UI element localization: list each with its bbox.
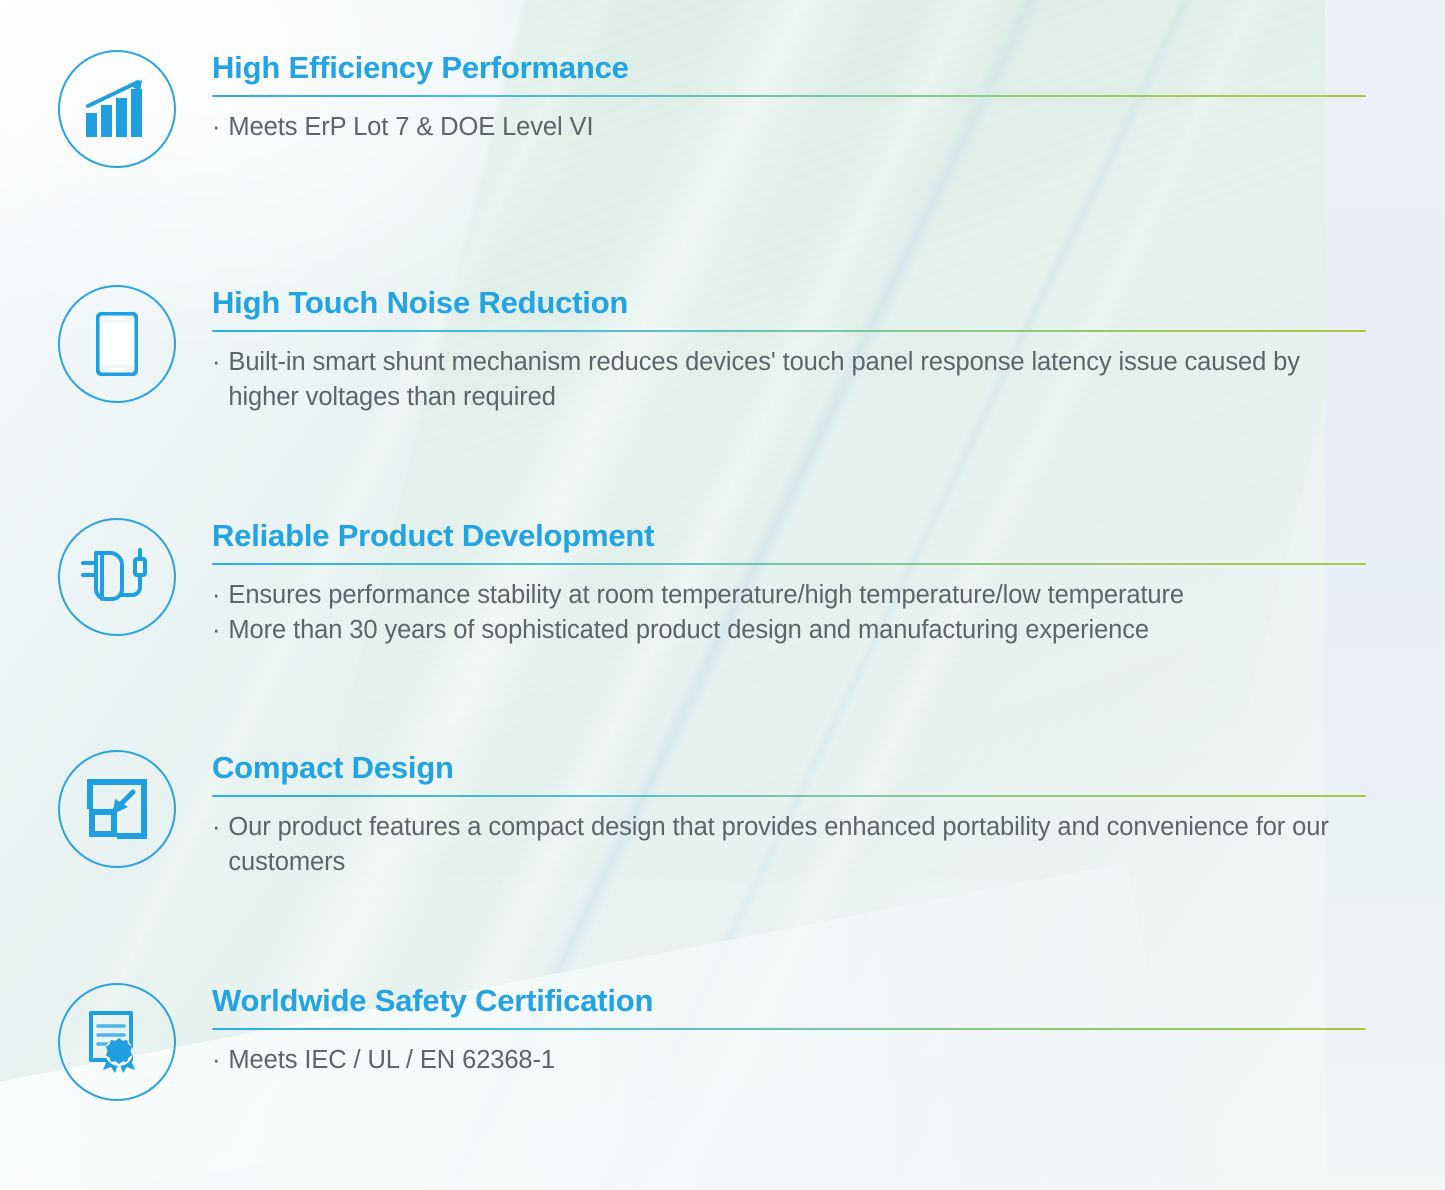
feature-divider — [212, 563, 1366, 566]
feature-item-high-efficiency-performance: High Efficiency Performance · Meets ErP … — [0, 50, 1445, 168]
feature-divider — [212, 330, 1366, 333]
feature-text-block: High Touch Noise Reduction · Built-in sm… — [212, 285, 1445, 414]
feature-item-compact-design: Compact Design · Our product features a … — [0, 750, 1445, 879]
power-adapter-icon — [58, 518, 176, 636]
bullet-marker: · — [212, 810, 220, 845]
feature-bullet-text: Meets ErP Lot 7 & DOE Level VI — [228, 110, 1365, 145]
feature-icon-wrapper — [55, 285, 179, 403]
feature-bullet: · More than 30 years of sophisticated pr… — [212, 613, 1365, 648]
feature-icon-wrapper — [55, 750, 179, 868]
feature-bullet-text: Ensures performance stability at room te… — [228, 578, 1365, 613]
feature-icon-wrapper — [55, 50, 179, 168]
feature-text-block: High Efficiency Performance · Meets ErP … — [212, 50, 1445, 145]
compact-resize-icon — [58, 750, 176, 868]
feature-title: Reliable Product Development — [212, 518, 1365, 554]
bullet-marker: · — [212, 110, 220, 145]
feature-item-worldwide-safety-certification: Worldwide Safety Certification · Meets I… — [0, 983, 1445, 1101]
feature-page: High Efficiency Performance · Meets ErP … — [0, 0, 1445, 1190]
feature-item-high-touch-noise-reduction: High Touch Noise Reduction · Built-in sm… — [0, 285, 1445, 414]
feature-divider — [212, 95, 1366, 98]
feature-bullet: · Our product features a compact design … — [212, 810, 1365, 879]
feature-bullet-list: · Built-in smart shunt mechanism reduces… — [212, 345, 1365, 414]
feature-title: Worldwide Safety Certification — [212, 983, 1365, 1019]
feature-bullet: · Ensures performance stability at room … — [212, 578, 1365, 613]
feature-text-block: Worldwide Safety Certification · Meets I… — [212, 983, 1445, 1078]
bullet-marker: · — [212, 345, 220, 380]
bullet-marker: · — [212, 613, 220, 648]
feature-title: Compact Design — [212, 750, 1365, 786]
bar-chart-growth-icon — [58, 50, 176, 168]
feature-text-block: Reliable Product Development · Ensures p… — [212, 518, 1445, 647]
feature-icon-wrapper — [55, 983, 179, 1101]
bullet-marker: · — [212, 1043, 220, 1078]
bullet-marker: · — [212, 578, 220, 613]
feature-text-block: Compact Design · Our product features a … — [212, 750, 1445, 879]
feature-bullet-list: · Meets ErP Lot 7 & DOE Level VI — [212, 110, 1365, 145]
feature-title: High Touch Noise Reduction — [212, 285, 1365, 321]
certificate-seal-icon — [58, 983, 176, 1101]
smartphone-icon — [58, 285, 176, 403]
feature-bullet-text: More than 30 years of sophisticated prod… — [228, 613, 1365, 648]
feature-bullet-text: Built-in smart shunt mechanism reduces d… — [228, 345, 1365, 414]
feature-title: High Efficiency Performance — [212, 50, 1365, 86]
feature-bullet-list: · Our product features a compact design … — [212, 810, 1365, 879]
feature-bullet: · Meets IEC / UL / EN 62368-1 — [212, 1043, 1365, 1078]
feature-bullet-text: Meets IEC / UL / EN 62368-1 — [228, 1043, 1365, 1078]
feature-bullet: · Built-in smart shunt mechanism reduces… — [212, 345, 1365, 414]
feature-divider — [212, 1028, 1366, 1031]
feature-bullet: · Meets ErP Lot 7 & DOE Level VI — [212, 110, 1365, 145]
feature-item-reliable-product-development: Reliable Product Development · Ensures p… — [0, 518, 1445, 647]
feature-bullet-text: Our product features a compact design th… — [228, 810, 1365, 879]
feature-bullet-list: · Ensures performance stability at room … — [212, 578, 1365, 647]
feature-bullet-list: · Meets IEC / UL / EN 62368-1 — [212, 1043, 1365, 1078]
feature-divider — [212, 795, 1366, 798]
feature-icon-wrapper — [55, 518, 179, 636]
